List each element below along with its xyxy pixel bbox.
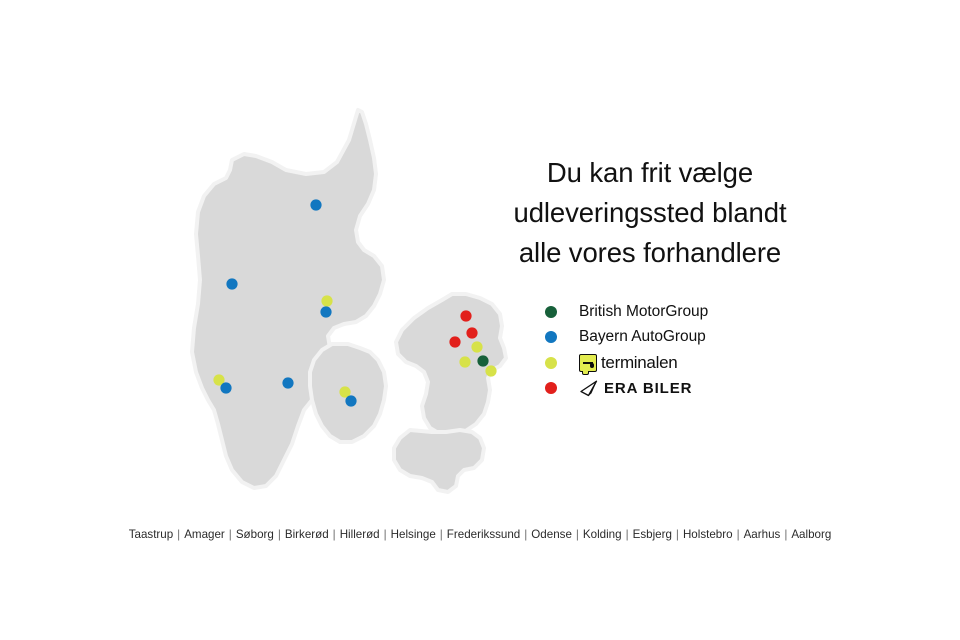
map-marker-birkerod[interactable]	[471, 341, 482, 352]
city-s-borg: Søborg	[235, 528, 275, 541]
city-hiller-d: Hillerød	[339, 528, 381, 541]
headline-line-1: Du kan frit vælge	[450, 153, 850, 193]
terminalen-logo: terminalen	[579, 353, 677, 373]
map-marker-frederikssund[interactable]	[449, 336, 460, 347]
legend-item-british-motorgroup[interactable]: British MotorGroup	[545, 299, 865, 325]
headline-line-2: udleveringssted blandt	[450, 193, 850, 233]
city-separator: |	[437, 528, 446, 541]
city-separator: |	[573, 528, 582, 541]
city-separator: |	[330, 528, 339, 541]
map-marker-aarhus-bayern[interactable]	[320, 306, 331, 317]
map-marker-soborg[interactable]	[477, 355, 488, 366]
era-triangle-icon	[579, 380, 599, 397]
terminalen-mark-icon	[579, 354, 597, 372]
page-title: Du kan frit vælge udleveringssted blandt…	[450, 153, 850, 273]
legend-label-british-motorgroup: British MotorGroup	[579, 303, 708, 321]
city-helsinge: Helsinge	[390, 528, 437, 541]
city-separator: |	[275, 528, 284, 541]
legend-label-bayern-autogroup: Bayern AutoGroup	[579, 328, 706, 346]
legend-item-bayern-autogroup[interactable]: Bayern AutoGroup	[545, 325, 865, 351]
city-list: Taastrup|Amager|Søborg|Birkerød|Hillerød…	[0, 528, 960, 541]
region-zealand	[396, 294, 506, 436]
city-odense: Odense	[530, 528, 573, 541]
legend-item-era-biler[interactable]: ERA BILER	[545, 376, 865, 402]
city-frederikssund: Frederikssund	[446, 528, 521, 541]
map-marker-esbjerg-bay[interactable]	[220, 382, 231, 393]
legend-item-terminalen[interactable]: terminalen	[545, 350, 865, 376]
city-separator: |	[381, 528, 390, 541]
map-marker-aalborg[interactable]	[310, 199, 321, 210]
map-marker-taastrup[interactable]	[459, 356, 470, 367]
map-marker-aarhus-term[interactable]	[321, 295, 332, 306]
city-separator: |	[521, 528, 530, 541]
city-esbjerg: Esbjerg	[632, 528, 673, 541]
city-kolding: Kolding	[582, 528, 623, 541]
city-taastrup: Taastrup	[128, 528, 174, 541]
city-separator: |	[226, 528, 235, 541]
headline-line-3: alle vores forhandlere	[450, 233, 850, 273]
city-aarhus: Aarhus	[743, 528, 782, 541]
legend-swatch-yellow	[545, 357, 557, 369]
brand-legend: British MotorGroup Bayern AutoGroup term…	[545, 299, 865, 401]
city-amager: Amager	[183, 528, 226, 541]
city-aalborg: Aalborg	[790, 528, 832, 541]
legend-swatch-blue	[545, 331, 557, 343]
map-marker-odense-bay[interactable]	[345, 395, 356, 406]
map-marker-amager[interactable]	[485, 365, 496, 376]
city-birker-d: Birkerød	[284, 528, 330, 541]
city-separator: |	[781, 528, 790, 541]
map-marker-kolding[interactable]	[282, 377, 293, 388]
city-separator: |	[174, 528, 183, 541]
city-holstebro: Holstebro	[682, 528, 734, 541]
map-marker-holstebro[interactable]	[226, 278, 237, 289]
era-biler-logo: ERA BILER	[579, 380, 692, 397]
city-separator: |	[623, 528, 632, 541]
legend-swatch-red	[545, 382, 557, 394]
region-lolland-falster	[394, 430, 484, 492]
legend-label-era-biler: ERA BILER	[604, 380, 692, 397]
legend-swatch-green	[545, 306, 557, 318]
legend-label-terminalen: terminalen	[601, 353, 677, 373]
map-marker-helsinge[interactable]	[460, 310, 471, 321]
city-separator: |	[673, 528, 682, 541]
city-separator: |	[734, 528, 743, 541]
map-marker-hillerod[interactable]	[466, 327, 477, 338]
poster-canvas: Du kan frit vælge udleveringssted blandt…	[0, 0, 960, 640]
